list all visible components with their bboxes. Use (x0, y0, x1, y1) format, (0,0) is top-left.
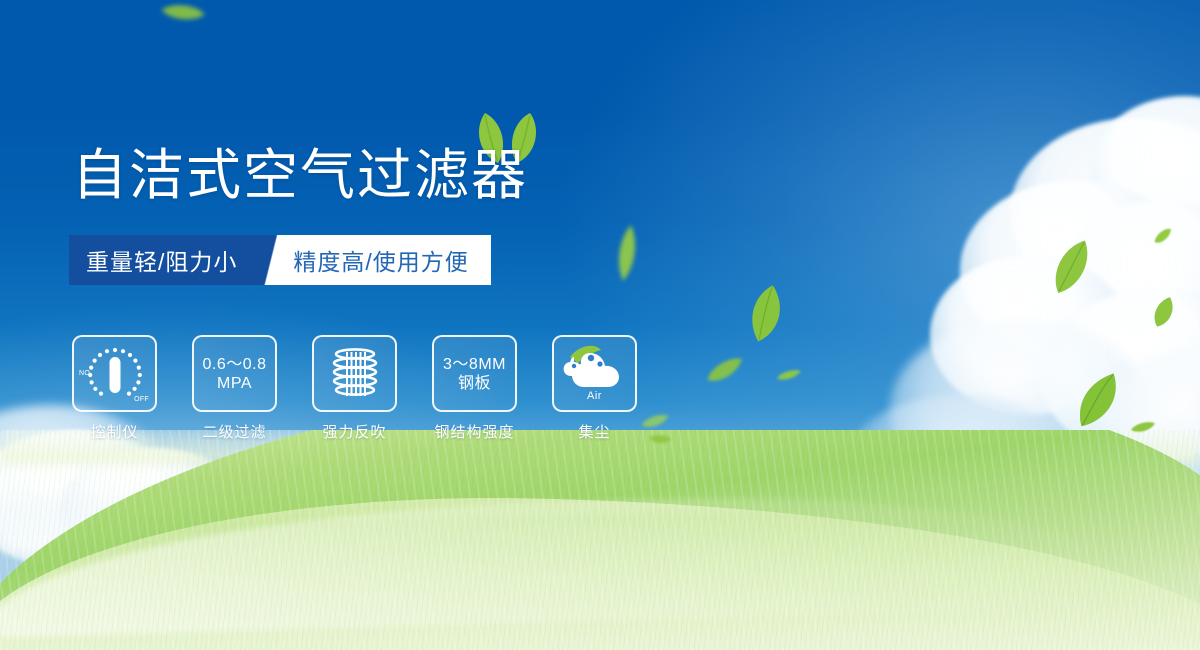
feature-item-control-dial[interactable]: NO OFF 控制仪 (72, 335, 157, 442)
feature-item-reverse-blow[interactable]: 强力反吹 (312, 335, 397, 442)
filter-cartridge-icon (324, 344, 386, 404)
feature-label: 钢结构强度 (434, 421, 514, 442)
tagline-banner: 重量轻/阻力小 精度高/使用方便 (69, 235, 491, 285)
feature-label: 集尘 (578, 421, 610, 442)
tagline-divider (255, 235, 289, 285)
air-label: Air (554, 390, 635, 402)
feature-label: 控制仪 (90, 421, 138, 442)
feature-list: NO OFF 控制仪 0.6～0.8 MPA 二级过滤 (72, 335, 637, 442)
banner-content: 自洁式空气过滤器 重量轻/阻力小 精度高/使用方便 (0, 0, 1200, 650)
feature-icon-box: Air (552, 335, 637, 412)
feature-item-pressure[interactable]: 0.6～0.8 MPA 二级过滤 (192, 335, 277, 442)
feature-icon-box: 3～8MM 钢板 (432, 335, 517, 412)
tagline-right: 精度高/使用方便 (289, 235, 490, 285)
dial-off-label: OFF (134, 396, 149, 403)
pressure-value-icon: 0.6～0.8 MPA (203, 355, 267, 393)
page-title: 自洁式空气过滤器 (72, 143, 528, 207)
steel-plate-icon: 3～8MM 钢板 (443, 355, 506, 393)
product-hero-banner: 自洁式空气过滤器 重量轻/阻力小 精度高/使用方便 (0, 0, 1200, 650)
dial-on-label: NO (79, 370, 90, 377)
feature-label: 强力反吹 (322, 421, 386, 442)
feature-icon-box: NO OFF (72, 335, 157, 412)
feature-item-dust-collection[interactable]: Air 集尘 (552, 335, 637, 442)
pressure-line-2: MPA (203, 374, 267, 393)
feature-label: 二级过滤 (202, 421, 266, 442)
steel-line-1: 3～8MM (443, 355, 506, 374)
feature-icon-box: 0.6～0.8 MPA (192, 335, 277, 412)
feature-item-steel-plate[interactable]: 3～8MM 钢板 钢结构强度 (432, 335, 517, 442)
tagline-left: 重量轻/阻力小 (69, 235, 255, 285)
pressure-line-1: 0.6～0.8 (203, 355, 267, 374)
feature-icon-box (312, 335, 397, 412)
steel-line-2: 钢板 (443, 374, 506, 393)
air-cloud-icon (560, 343, 630, 395)
